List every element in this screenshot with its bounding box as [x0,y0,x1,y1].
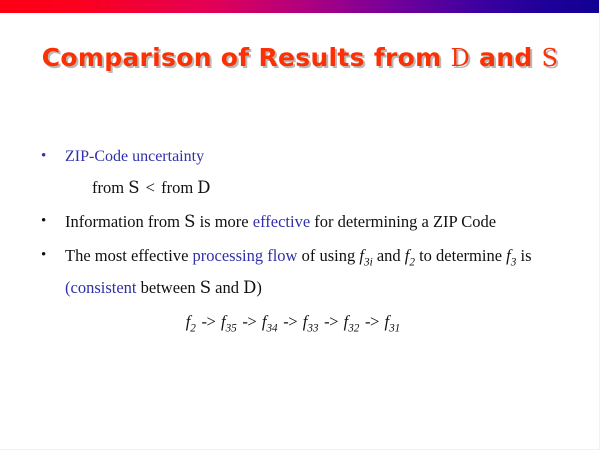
processing-flow-formula: f2 -> f35 -> f34 -> f33 -> f32 -> f31 [0,312,600,334]
formula-term: f35 [221,312,237,331]
variable-f3: f3 [506,246,516,265]
flow-arrow: -> [237,312,262,331]
bullet3-seg5: is [516,246,531,265]
flow-arrow: -> [278,312,303,331]
list-item-label: Information from S is more effective for… [65,209,578,234]
flow-arrow: -> [319,312,344,331]
slide-body: • ZIP-Code uncertainty from S < from D •… [0,144,600,404]
gradient-band-decoration [0,0,600,13]
variable-subscript: 31 [389,323,400,335]
page-title: Comparison of Results from D and S [0,43,600,72]
bullet3-seg7: and [211,278,243,297]
subline-seg1: from [92,178,128,197]
formula-term: f31 [384,312,400,331]
flow-arrow: -> [196,312,221,331]
bullet3-seg8: ) [256,278,262,297]
subline-seg2: from [161,178,197,197]
bullet3-seg1: The most effective [65,246,193,265]
formula-term: f2 [186,312,196,331]
list-item-label: The most effective processing flow of us… [65,243,578,300]
symbol-s-glyph: S [184,212,195,231]
bullet3-seg4: to determine [415,246,506,265]
page-title-part1: Comparison of Results from [42,43,451,72]
bullet3-seg3: and [373,246,405,265]
variable-subscript: 33 [307,323,318,335]
bullet2-seg3: for determining a ZIP Code [310,212,496,231]
bullet-marker-icon: • [41,144,46,169]
flow-arrow: -> [359,312,384,331]
symbol-d-glyph: D [451,44,471,72]
highlight-processing-flow: processing flow [193,246,298,265]
symbol-d-glyph: D [243,278,256,297]
list-item: • The most effective processing flow of … [0,243,600,300]
formula-term: f34 [262,312,278,331]
variable-subscript: 3i [364,256,373,268]
highlight-effective: effective [253,212,310,231]
variable-f3i: f3i [359,246,372,265]
highlight-consistent: (consistent [65,278,137,297]
formula-term: f33 [303,312,319,331]
bullet2-seg1: Information from [65,212,184,231]
list-item: • Information from S is more effective f… [0,209,600,234]
bullet-marker-icon: • [41,209,46,234]
variable-subscript: 34 [266,323,277,335]
list-item: • ZIP-Code uncertainty [0,144,600,169]
comparison-subline: from S < from D [92,175,600,200]
symbol-s-glyph: S [542,44,559,72]
bullet3-seg6: between [137,278,200,297]
symbol-s-glyph: S [200,278,211,297]
page-title-part2: and [470,43,541,72]
less-than-operator: < [146,178,155,197]
variable-subscript: 35 [226,323,237,335]
symbol-d-glyph: D [197,178,210,197]
list-item-label: ZIP-Code uncertainty [65,144,578,169]
bullet-marker-icon: • [41,243,46,268]
variable-subscript: 32 [348,323,359,335]
formula-term: f32 [344,312,360,331]
slide-canvas: Comparison of Results from D and S • ZIP… [0,0,600,450]
bullet2-seg2: is more [195,212,252,231]
symbol-s-glyph: S [128,178,139,197]
bullet3-seg2: of using [297,246,359,265]
variable-f2: f2 [405,246,415,265]
